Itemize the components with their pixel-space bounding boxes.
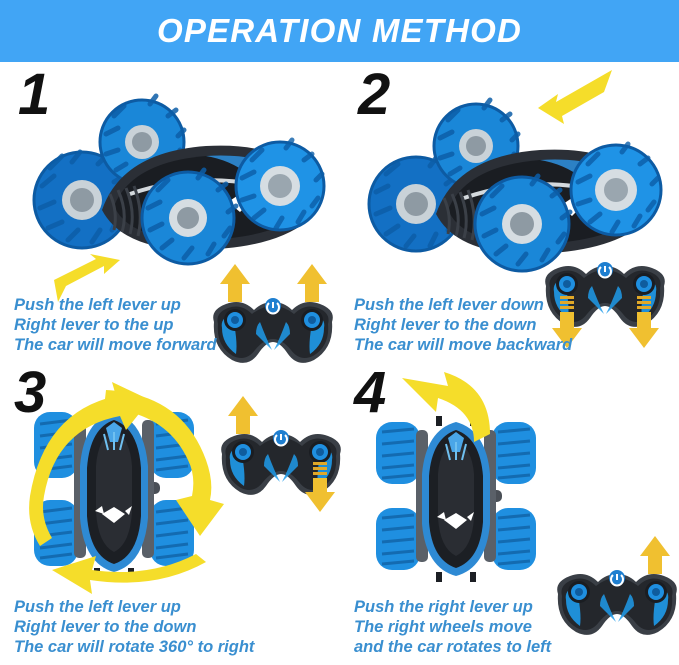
illustration-3 — [0, 364, 339, 614]
tire-right-far — [571, 144, 661, 235]
remote-controller-3 — [221, 396, 341, 512]
tire-front-lower — [475, 176, 570, 271]
caption-panel-3: Push the left lever up Right lever to th… — [14, 597, 254, 657]
car-body-top-3 — [80, 406, 148, 578]
right-thumbstick — [645, 581, 667, 603]
controller-body-4 — [557, 570, 677, 635]
illustration-2 — [340, 62, 679, 312]
illustration-4 — [340, 364, 679, 614]
caption-line: Push the right lever up — [354, 597, 551, 617]
header-banner: OPERATION METHOD — [0, 0, 679, 62]
tire-fl — [376, 422, 420, 484]
caption-line: Push the left lever up — [14, 295, 217, 315]
right-thumbstick — [301, 309, 323, 331]
remote-controller-4 — [557, 536, 677, 635]
instruction-panel-3: 3 — [0, 364, 339, 665]
tire-front-lower — [142, 170, 236, 264]
caption-line: The car will move forward — [14, 335, 217, 355]
tire-right-far — [236, 140, 324, 230]
instruction-panel-4: 4 — [340, 364, 679, 665]
right-thumbstick — [309, 441, 331, 463]
caption-line: The car will rotate 360° to right — [14, 637, 254, 657]
caption-line: The car will move backward — [354, 335, 572, 355]
remote-controller-1 — [213, 264, 333, 363]
tire-rr — [492, 508, 536, 570]
caption-panel-2: Push the left lever down Right lever to … — [354, 295, 572, 355]
instruction-grid: 1 — [0, 62, 679, 664]
caption-panel-1: Push the left lever up Right lever to th… — [14, 295, 217, 355]
caption-line: Right lever to the down — [14, 617, 254, 637]
caption-line: Right lever to the down — [354, 315, 572, 335]
illustration-1 — [0, 62, 339, 312]
left-thumbstick — [568, 581, 590, 603]
left-thumbstick — [224, 309, 246, 331]
tire-fr — [492, 422, 536, 484]
controller-body-1 — [213, 298, 333, 363]
instruction-panel-2: 2 — [340, 62, 679, 363]
caption-line: and the car rotates to left — [354, 637, 551, 657]
caption-line: Push the left lever up — [14, 597, 254, 617]
instruction-panel-1: 1 — [0, 62, 339, 363]
car-top-view-4 — [376, 416, 536, 582]
left-thumbstick — [232, 441, 254, 463]
car-side-view-1 — [34, 96, 324, 264]
motion-arrow-up-right — [538, 70, 612, 124]
caption-line: Right lever to the up — [14, 315, 217, 335]
right-thumbstick — [633, 273, 655, 295]
caption-line: Push the left lever down — [354, 295, 572, 315]
page-title: OPERATION METHOD — [157, 12, 522, 50]
car-body-top-4 — [422, 416, 490, 582]
caption-panel-4: Push the right lever up The right wheels… — [354, 597, 551, 657]
caption-line: The right wheels move — [354, 617, 551, 637]
tire-rl — [376, 508, 420, 570]
car-side-view-2 — [369, 100, 661, 271]
left-thumbstick — [556, 273, 578, 295]
